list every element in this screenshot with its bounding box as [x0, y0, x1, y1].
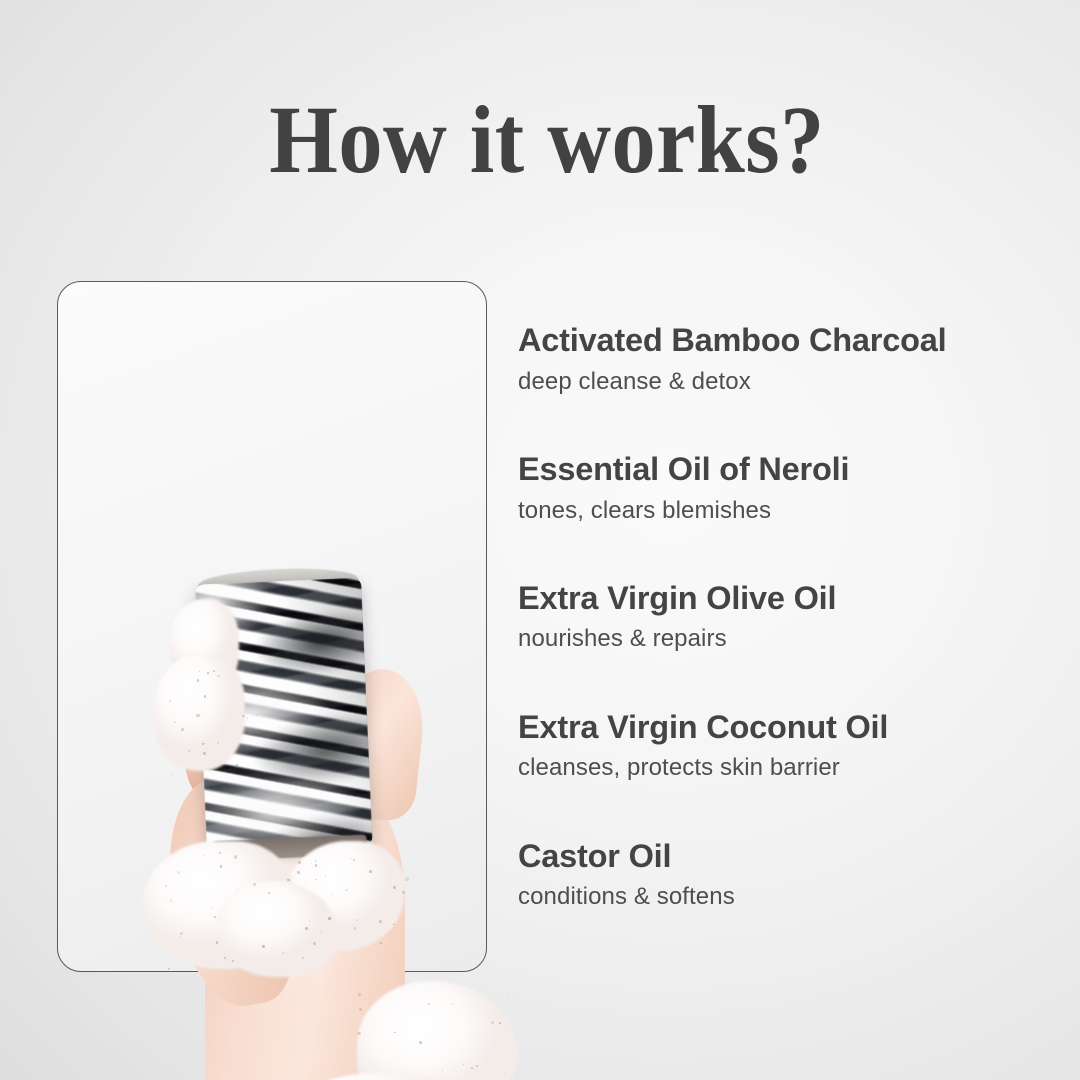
ingredient-list: Activated Bamboo Charcoal deep cleanse &… — [518, 322, 1058, 912]
foam-speck — [358, 993, 361, 996]
foam-speck — [359, 1008, 362, 1011]
foam-speck — [476, 1065, 477, 1066]
foam-speck — [491, 1021, 494, 1024]
foam-blob — [357, 981, 517, 1080]
foam-speck — [428, 1003, 430, 1005]
ingredient-benefit: conditions & softens — [518, 881, 1058, 912]
foam-speck — [357, 1032, 360, 1035]
foam-blob — [263, 1073, 493, 1080]
ingredient-benefit: deep cleanse & detox — [518, 366, 1058, 397]
ingredient-benefit: cleanses, protects skin barrier — [518, 752, 1058, 783]
ingredient-name: Activated Bamboo Charcoal — [518, 322, 1058, 360]
ingredient-name: Essential Oil of Neroli — [518, 451, 1058, 489]
foam-speck — [371, 1059, 373, 1061]
foam-speck — [419, 1041, 422, 1044]
product-photo-card — [57, 281, 487, 972]
ingredient-benefit: tones, clears blemishes — [518, 495, 1058, 526]
foam-speck — [463, 1064, 465, 1066]
foam-speck — [442, 1070, 444, 1072]
list-item: Extra Virgin Coconut Oil cleanses, prote… — [518, 709, 1058, 784]
list-item: Castor Oil conditions & softens — [518, 838, 1058, 913]
foam-speck — [499, 1022, 501, 1024]
list-item: Activated Bamboo Charcoal deep cleanse &… — [518, 322, 1058, 397]
ingredient-name: Castor Oil — [518, 838, 1058, 876]
list-item: Essential Oil of Neroli tones, clears bl… — [518, 451, 1058, 526]
foam-speck — [452, 1003, 454, 1005]
page-title: How it works? — [44, 92, 1050, 188]
how-it-works-infographic: How it works? A — [0, 0, 1080, 1080]
foam-speck — [507, 993, 509, 995]
foam-speck — [394, 1032, 396, 1034]
list-item: Extra Virgin Olive Oil nourishes & repai… — [518, 580, 1058, 655]
ingredient-name: Extra Virgin Coconut Oil — [518, 709, 1058, 747]
foam-speck — [504, 1072, 505, 1073]
ingredient-name: Extra Virgin Olive Oil — [518, 580, 1058, 618]
foam-speck — [471, 1067, 473, 1069]
ingredient-benefit: nourishes & repairs — [518, 623, 1058, 654]
